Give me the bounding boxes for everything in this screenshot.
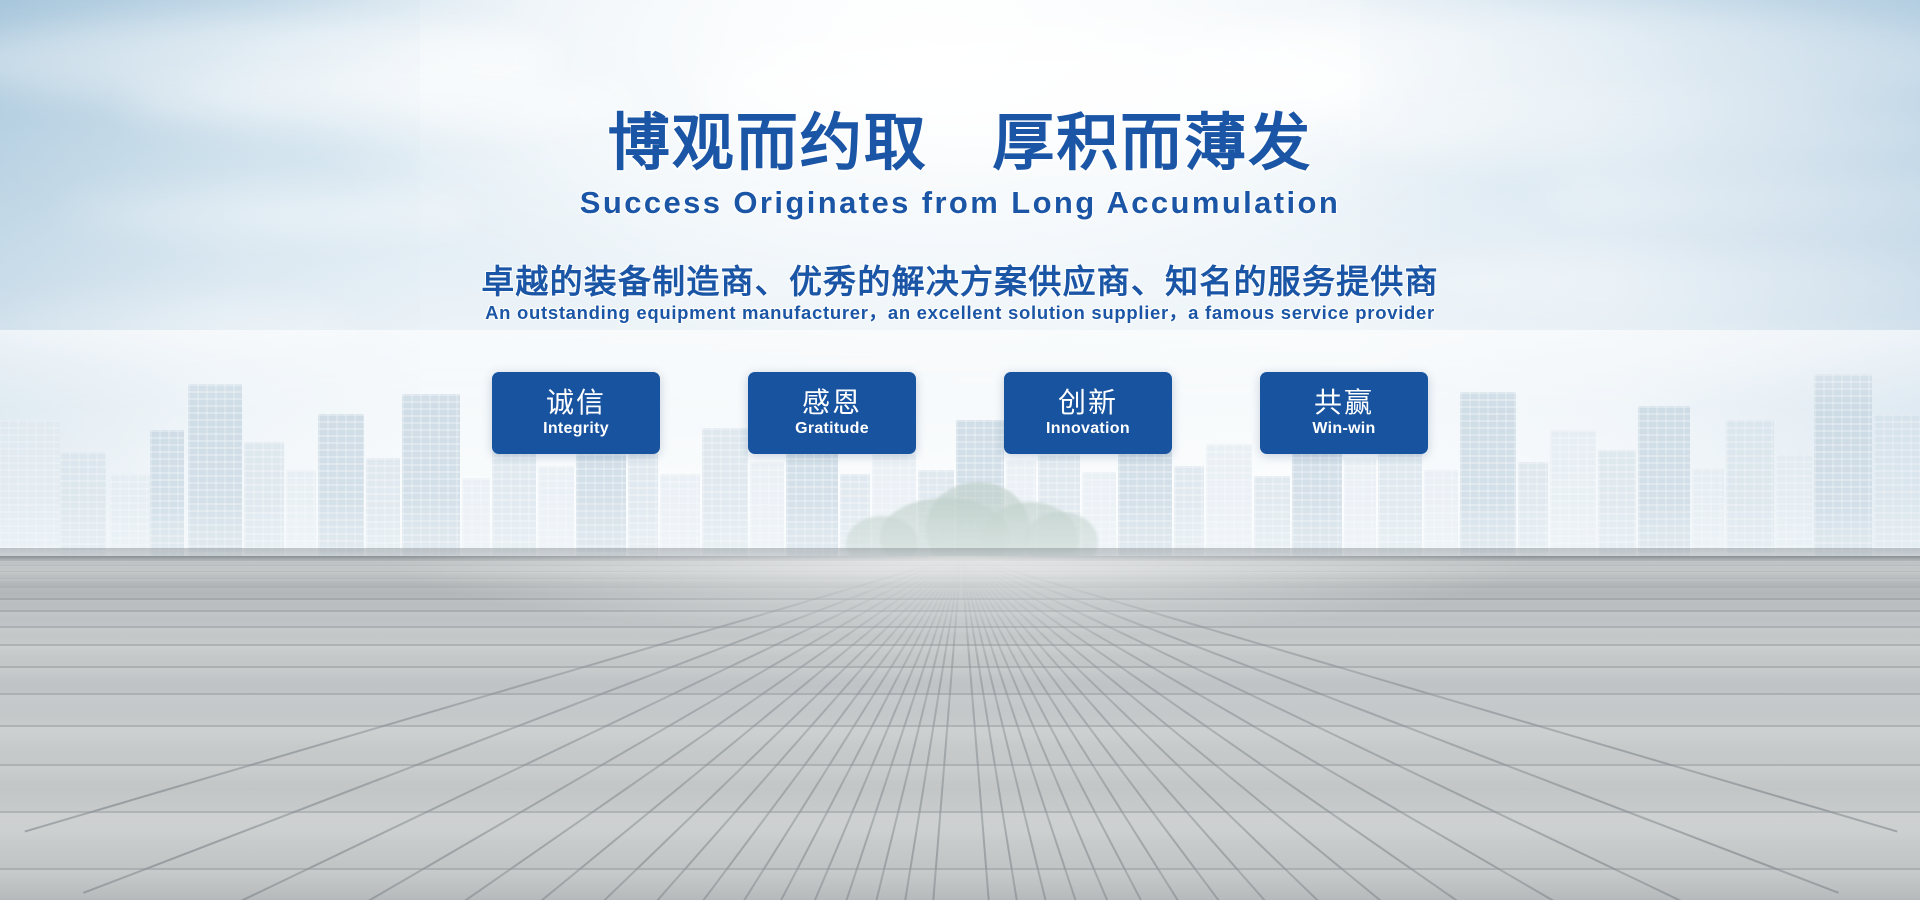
- value-card-label-en: Win-win: [1312, 421, 1375, 437]
- value-card-integrity[interactable]: 诚信Integrity: [492, 372, 660, 454]
- value-card-label-cn: 共赢: [1314, 389, 1374, 417]
- paving-band: [0, 725, 1920, 746]
- headline-english: Success Originates from Long Accumulatio…: [0, 186, 1920, 220]
- headline-chinese-part2: 厚积而薄发: [992, 109, 1312, 178]
- banner-copy: 博观而约取 厚积而薄发 Success Originates from Long…: [0, 0, 1920, 560]
- value-cards: 诚信Integrity感恩Gratitude创新Innovation共赢Win-…: [0, 372, 1920, 458]
- paving-band: [0, 811, 1920, 842]
- value-card-gratitude[interactable]: 感恩Gratitude: [748, 372, 916, 454]
- value-card-label-cn: 诚信: [546, 389, 606, 417]
- headline-chinese: 博观而约取 厚积而薄发: [0, 113, 1920, 175]
- plaza-highlight: [0, 556, 1920, 676]
- subline-chinese: 卓越的装备制造商、优秀的解决方案供应商、知名的服务提供商: [0, 255, 1920, 303]
- value-card-label-en: Innovation: [1046, 421, 1130, 437]
- value-card-win-win[interactable]: 共赢Win-win: [1260, 372, 1428, 454]
- value-card-label-cn: 感恩: [802, 389, 862, 417]
- paving-band: [0, 764, 1920, 790]
- paving-band: [0, 693, 1920, 711]
- paving-band: [0, 868, 1920, 900]
- subline-english: An outstanding equipment manufacturer，an…: [0, 299, 1920, 325]
- value-card-label-en: Gratitude: [795, 421, 869, 437]
- value-card-label-cn: 创新: [1058, 389, 1118, 417]
- corporate-culture-banner: 博观而约取 厚积而薄发 Success Originates from Long…: [0, 0, 1920, 900]
- value-card-label-en: Integrity: [543, 421, 609, 437]
- value-card-innovation[interactable]: 创新Innovation: [1004, 372, 1172, 454]
- headline-chinese-part1: 博观而约取: [608, 109, 928, 178]
